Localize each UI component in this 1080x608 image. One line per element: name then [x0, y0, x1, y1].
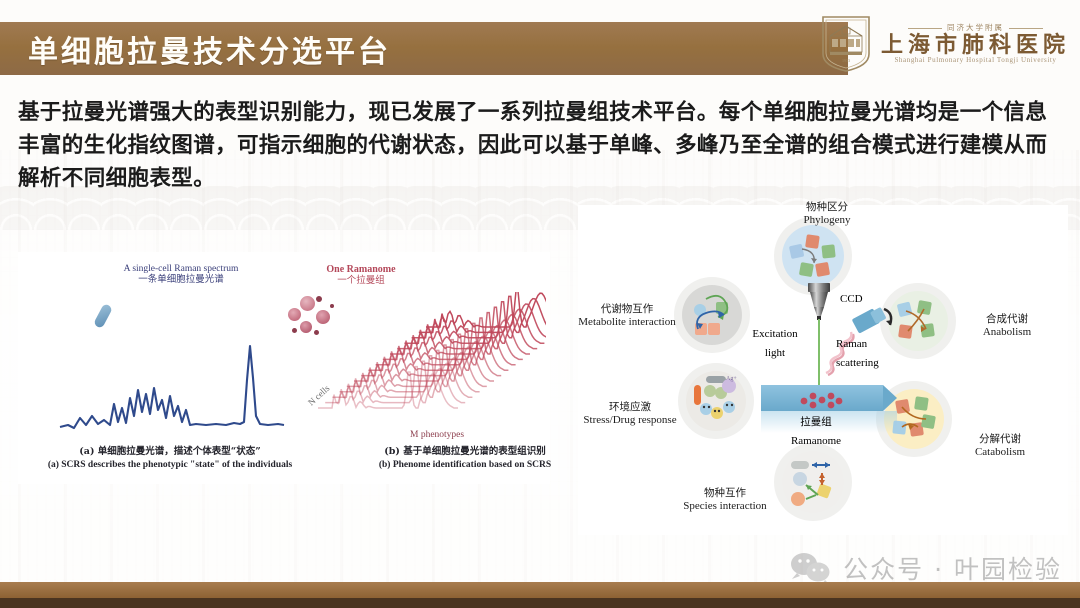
- svg-text:Ag+: Ag+: [726, 376, 737, 382]
- label-catabolism-cn: 分解代谢: [948, 433, 1052, 446]
- heading-b-en: One Ramanome: [286, 264, 436, 276]
- label-stress-en: Stress/Drug response: [574, 414, 686, 427]
- logo-affiliation: 同济大学附属: [947, 24, 1004, 32]
- excitation-beam: [818, 319, 820, 387]
- slide-root: 单细胞拉曼技术分选平台 1933 同济大学附属 上海市肺科医院 Shanghai…: [0, 0, 1080, 608]
- svg-text:1933: 1933: [842, 58, 850, 63]
- watermark: 公众号 · 叶园检验: [789, 550, 1062, 586]
- caption-b: (b) 基于单细胞拉曼光谱的表型组识别 (b) Phenome identifi…: [350, 446, 580, 472]
- raman-spectrum-plot: [56, 330, 286, 440]
- cells-on-chip-icon: [798, 389, 844, 409]
- excitation-line-2: light: [765, 347, 785, 359]
- ccd-label: CCD: [840, 293, 863, 305]
- figure-right-panel: Ag+: [578, 205, 1068, 535]
- stress-response-node-icon: Ag+: [686, 371, 746, 431]
- logo-name: 上海市肺科医院: [881, 34, 1070, 56]
- logo-rule-right: [1009, 28, 1043, 29]
- hospital-building-crest-icon: 1933: [820, 14, 872, 74]
- caption-b-cn: (b) 基于单细胞拉曼光谱的表型组识别: [350, 446, 580, 459]
- hospital-logo: 1933 同济大学附属 上海市肺科医院 Shanghai Pulmonary H…: [820, 14, 1070, 74]
- label-catabolism-en: Catabolism: [948, 446, 1052, 459]
- objective-lens-icon: [806, 283, 832, 321]
- watermark-text: 公众号 · 叶园检验: [843, 550, 1062, 586]
- label-phylogeny-cn: 物种区分: [772, 201, 882, 214]
- m-phenotypes-axis-label: M phenotypes: [410, 430, 464, 440]
- wechat-icon: [789, 551, 833, 585]
- figure-left-heading-b: One Ramanome 一个拉曼组: [286, 264, 436, 286]
- heading-b-cn: 一个拉曼组: [286, 276, 436, 287]
- label-species-cn: 物种互作: [668, 487, 782, 500]
- ramanome-cn: 拉曼组: [800, 416, 832, 428]
- label-metabolite-cn: 代谢物互作: [574, 303, 680, 316]
- label-phylogeny: 物种区分 Phylogeny: [772, 201, 882, 227]
- label-metabolite-en: Metabolite interaction: [574, 316, 680, 329]
- ramanome-center-label: 拉曼组 Ramanome: [756, 411, 876, 449]
- bottom-bar-tan: [0, 582, 1080, 598]
- label-phylogeny-en: Phylogeny: [772, 214, 882, 227]
- logo-affiliation-row: 同济大学附属: [908, 24, 1043, 32]
- phylogeny-node-icon: [782, 225, 844, 287]
- label-anabolism-cn: 合成代谢: [956, 313, 1058, 326]
- label-stress-response: 环境应激 Stress/Drug response: [574, 401, 686, 427]
- figure-left-heading-a: A single-cell Raman spectrum 一条单细胞拉曼光谱: [76, 264, 286, 286]
- label-metabolite-interaction: 代谢物互作 Metabolite interaction: [574, 303, 680, 329]
- raman-line-1: Raman: [836, 338, 867, 350]
- body-paragraph: 基于拉曼光谱强大的表型识别能力，现已发展了一系列拉曼组技术平台。每个单细胞拉曼光…: [18, 96, 1062, 195]
- caption-a-cn: (a) 单细胞拉曼光谱，描述个体表型“状态”: [20, 446, 320, 459]
- label-anabolism-en: Anabolism: [956, 326, 1058, 339]
- ramanome-waterfall-plot: [318, 292, 546, 452]
- ramanome-en: Ramanome: [791, 435, 841, 447]
- label-species-interaction: 物种互作 Species interaction: [668, 487, 782, 513]
- title-bar: 单细胞拉曼技术分选平台: [0, 22, 848, 75]
- metabolite-interaction-node-icon: [682, 285, 742, 345]
- caption-b-en: (b) Phenome identification based on SCRS: [350, 459, 580, 472]
- page-title: 单细胞拉曼技术分选平台: [28, 27, 391, 71]
- excitation-line-1: Excitation: [752, 328, 797, 340]
- logo-english: Shanghai Pulmonary Hospital Tongji Unive…: [894, 57, 1056, 64]
- raman-scattering-label: Raman scattering: [836, 333, 916, 371]
- caption-a: (a) 单细胞拉曼光谱，描述个体表型“状态” (a) SCRS describe…: [20, 446, 320, 472]
- single-cell-rod-icon: [93, 303, 113, 329]
- heading-a-cn: 一条单细胞拉曼光谱: [76, 275, 286, 286]
- caption-a-en: (a) SCRS describes the phenotypic "state…: [20, 459, 320, 472]
- excitation-light-label: Excitation light: [738, 323, 812, 361]
- label-catabolism: 分解代谢 Catabolism: [948, 433, 1052, 459]
- logo-rule-left: [908, 28, 942, 29]
- bottom-bar-dark: [0, 598, 1080, 608]
- label-stress-cn: 环境应激: [574, 401, 686, 414]
- label-species-en: Species interaction: [668, 500, 782, 513]
- label-anabolism: 合成代谢 Anabolism: [956, 313, 1058, 339]
- species-interaction-node-icon: [782, 451, 844, 513]
- raman-line-2: scattering: [836, 357, 879, 369]
